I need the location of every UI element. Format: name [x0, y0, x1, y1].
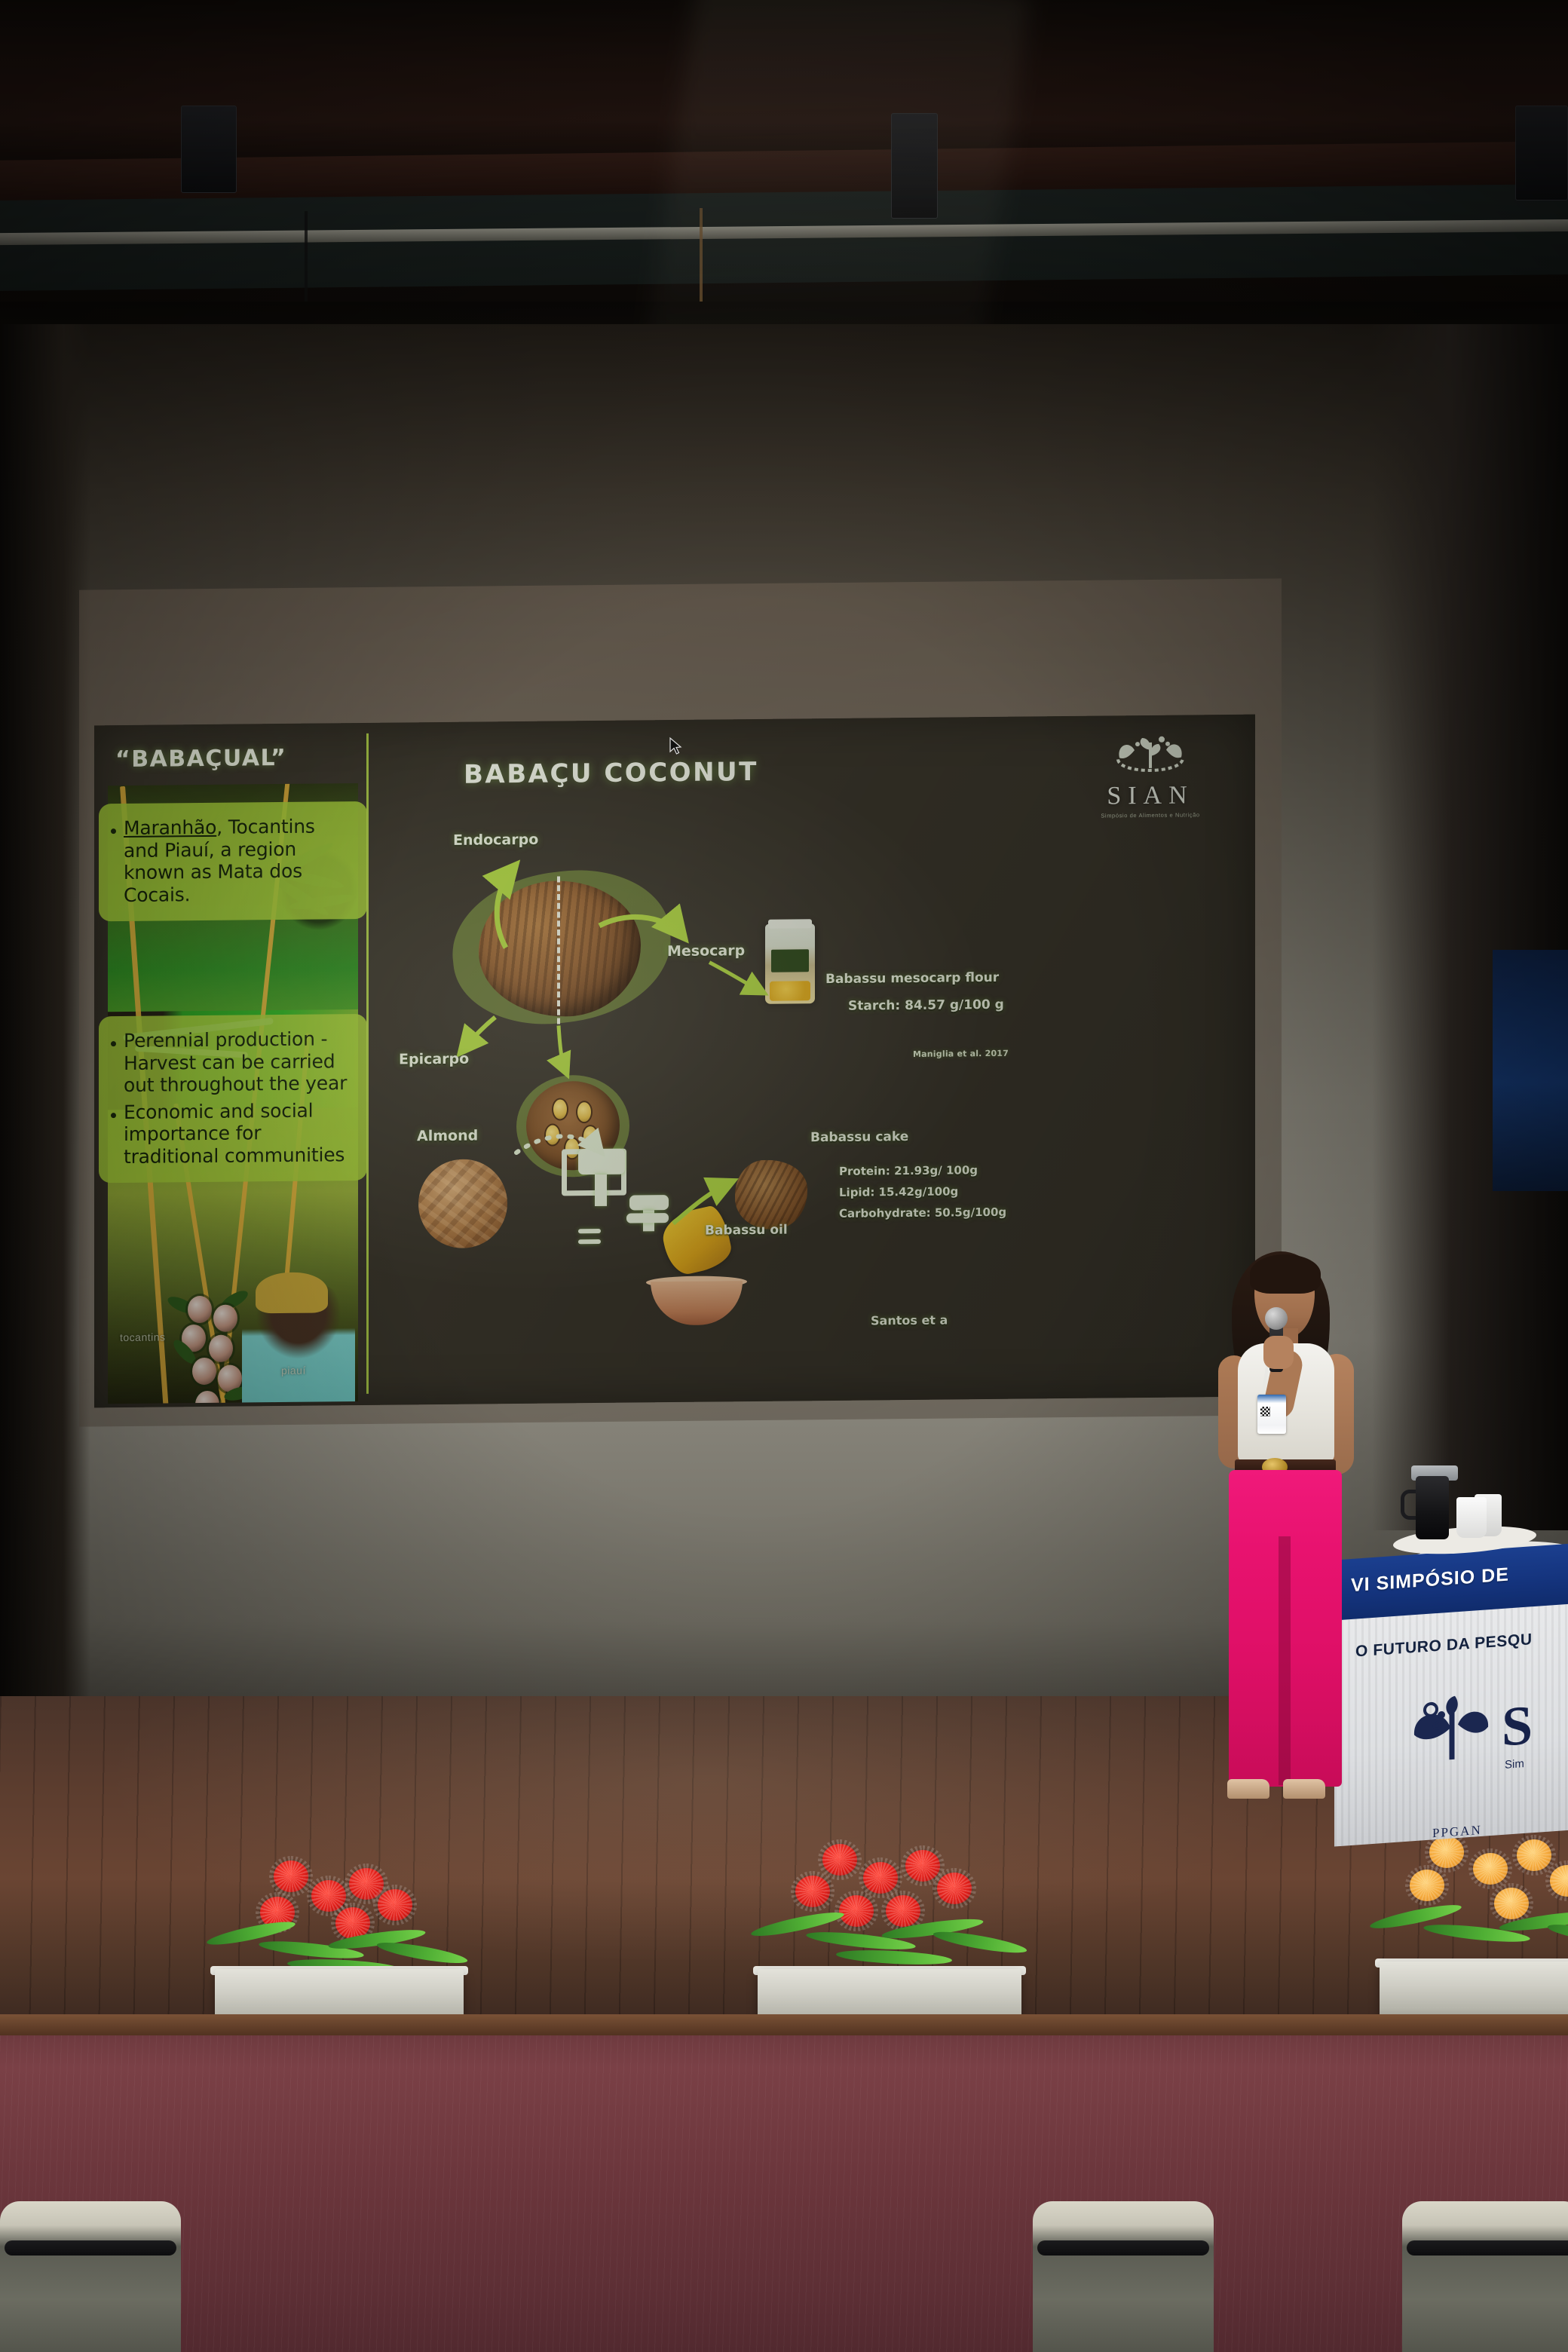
hanging-speaker-mid	[891, 113, 938, 219]
microphone-icon	[1265, 1307, 1288, 1330]
bullet-dot-icon	[111, 828, 116, 834]
oil-bowl	[651, 1281, 743, 1325]
presenter-hand	[1263, 1336, 1294, 1369]
slide-left-panel: tocantins piauí Maranhão, Tocantins and …	[94, 723, 358, 1407]
presenter	[1199, 1244, 1372, 1817]
venue-room: tocantins piauí Maranhão, Tocantins and …	[0, 0, 1568, 2352]
bullet-dot-icon	[111, 1041, 116, 1046]
almond-photo	[418, 1159, 507, 1248]
coffee-pitcher	[1416, 1476, 1449, 1539]
pouch-seal	[768, 919, 812, 929]
bullet-box-region: Maranhão, Tocantins and Piauí, a region …	[99, 801, 367, 921]
presenter-shoe	[1283, 1779, 1325, 1799]
auditorium-chair	[1402, 2201, 1568, 2352]
presenter-shoe	[1227, 1779, 1269, 1799]
stage-front-texture	[0, 2035, 1568, 2352]
sian-subtitle: Simpósio de Alimentos e Nutrição	[1086, 811, 1214, 819]
wall-shadow-right	[1372, 324, 1568, 1530]
babassu-cake-photo	[735, 1159, 807, 1230]
bullet-underlined-word: Maranhão	[124, 816, 216, 839]
bullet-text: Maranhão, Tocantins and Piauí, a region …	[124, 815, 355, 906]
bullet-box-production: Perennial production - Harvest can be ca…	[99, 1014, 367, 1183]
mesocarp-flour-pouch	[765, 923, 815, 1004]
hanging-speaker-left	[181, 106, 237, 193]
planter-right	[1380, 1832, 1568, 2020]
banner-logo-sub: Sim	[1505, 1757, 1524, 1772]
product-fact-protein: Protein: 21.93g/ 100g	[839, 1163, 978, 1178]
product-fact-carb: Carbohydrate: 50.5g/100g	[839, 1205, 1006, 1220]
side-display-panel	[1493, 950, 1568, 1191]
column-divider	[366, 733, 369, 1394]
wall-shadow-left	[0, 324, 90, 1734]
label-mesocarp: Mesocarp	[667, 942, 745, 960]
bullet-text: Economic and social importance for tradi…	[124, 1099, 355, 1168]
sian-logo: SIAN Simpósio de Alimentos e Nutrição	[1086, 731, 1214, 823]
auditorium-chair	[0, 2201, 181, 2352]
slide-title-left: “BABAÇUAL”	[115, 745, 286, 773]
map-label-piaui: piauí	[281, 1364, 306, 1377]
pouch-illustration	[770, 981, 810, 1001]
banner-sian-plant-icon	[1407, 1684, 1497, 1773]
slide-right-panel: BABAÇU COCONUT	[373, 715, 1255, 1405]
trouser-seam	[1279, 1536, 1291, 1785]
product-fact-lipid: Lipid: 15.42g/100g	[839, 1184, 958, 1199]
label-almond: Almond	[417, 1128, 478, 1145]
presentation-slide[interactable]: tocantins piauí Maranhão, Tocantins and …	[94, 715, 1255, 1408]
label-epicarpo: Epicarpo	[399, 1051, 469, 1068]
planter-left	[215, 1854, 464, 2028]
bullet-item: Maranhão, Tocantins and Piauí, a region …	[111, 815, 355, 906]
citation-santos: Santos et a	[871, 1313, 948, 1328]
product-name-flour: Babassu mesocarp flour	[825, 970, 999, 987]
planter-box	[1380, 1962, 1568, 2020]
mouse-pointer-icon	[669, 737, 684, 760]
map-person-headwrap	[256, 1272, 328, 1313]
product-fact-starch: Starch: 84.57 g/100 g	[848, 997, 1004, 1014]
pitcher-handle	[1401, 1490, 1417, 1520]
paper-cups-stack	[1456, 1497, 1487, 1538]
hanging-speaker-right	[1515, 106, 1568, 201]
coconut-section-line	[557, 876, 560, 1024]
banner-logo-letter: S	[1502, 1694, 1533, 1760]
badge-qr-code-icon	[1260, 1407, 1270, 1416]
presenter-hair-front	[1250, 1254, 1321, 1294]
sian-plant-icon	[1109, 731, 1192, 780]
product-name-cake: Babassu cake	[810, 1129, 908, 1145]
bullet-text: Perennial production - Harvest can be ca…	[124, 1027, 355, 1096]
product-name-oil: Babassu oil	[705, 1223, 788, 1239]
map-label-tocantins: tocantins	[120, 1331, 166, 1343]
bullet-item: Economic and social importance for tradi…	[111, 1099, 355, 1168]
bullet-item: Perennial production - Harvest can be ca…	[111, 1027, 355, 1097]
bullet-dot-icon	[111, 1113, 116, 1118]
planter-center	[758, 1839, 1021, 2028]
citation-maniglia: Maniglia et al. 2017	[913, 1049, 1009, 1059]
banner-partner-ppgan: PPGAN	[1432, 1823, 1482, 1842]
slide-title-right: BABAÇU COCONUT	[464, 757, 758, 790]
pouch-label	[771, 949, 809, 972]
auditorium-chair	[1033, 2201, 1214, 2352]
sian-wordmark: SIAN	[1086, 781, 1214, 811]
label-endocarpo: Endocarpo	[453, 831, 538, 849]
